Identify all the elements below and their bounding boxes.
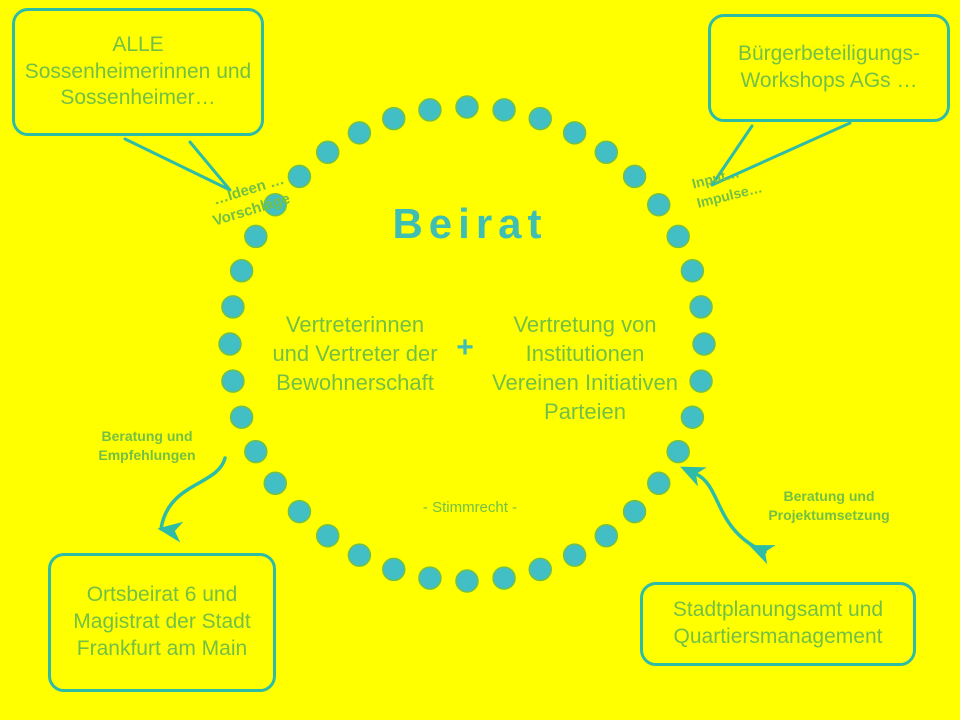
ring-dot xyxy=(348,122,370,144)
ring-dot xyxy=(383,108,405,130)
ring-dot xyxy=(667,225,689,247)
ring-dot xyxy=(648,194,670,216)
arrow-beratung-empfehlungen xyxy=(161,458,225,529)
ring-dot xyxy=(456,570,478,592)
diagram-canvas: ALLE Sossenheimerinnen und Sossenheimer…… xyxy=(0,0,960,720)
ring-dot xyxy=(595,141,617,163)
center-column-institutions: Vertretung von Institutionen Vereinen In… xyxy=(490,310,680,426)
ring-dot xyxy=(624,501,646,523)
box-ortsbeirat-magistrat[interactable]: Ortsbeirat 6 und Magistrat der Stadt Fra… xyxy=(48,553,276,692)
ring-dot xyxy=(529,108,551,130)
speech-bubble-citizens[interactable]: ALLE Sossenheimerinnen und Sossenheimer… xyxy=(12,8,264,136)
arrow-label-beratung-empfehlungen: Beratung und Empfehlungen xyxy=(72,427,222,465)
ring-dot xyxy=(348,544,370,566)
ring-dot xyxy=(667,441,689,463)
ring-dot xyxy=(231,406,253,428)
ring-dot xyxy=(693,333,715,355)
ring-dot xyxy=(219,333,241,355)
ring-dot xyxy=(681,406,703,428)
box-ortsbeirat-magistrat-text: Ortsbeirat 6 und Magistrat der Stadt Fra… xyxy=(59,582,265,663)
ring-dot xyxy=(419,567,441,589)
annotation-input-impulse: Input… Impulse… xyxy=(690,148,806,213)
speech-bubble-workshops[interactable]: Bürgerbeteiligungs- Workshops AGs … xyxy=(708,14,950,122)
speech-bubble-workshops-text: Bürgerbeteiligungs- Workshops AGs … xyxy=(719,41,939,95)
arrow-label-beratung-projektumsetzung: Beratung und Projektumsetzung xyxy=(744,487,914,525)
ring-dot xyxy=(564,122,586,144)
ring-dot xyxy=(690,296,712,318)
ring-dot xyxy=(222,370,244,392)
ring-dot xyxy=(317,525,339,547)
ring-dot xyxy=(231,260,253,282)
ring-dot xyxy=(245,225,267,247)
ring-dot xyxy=(564,544,586,566)
ring-dot xyxy=(681,260,703,282)
ring-dot xyxy=(690,370,712,392)
ring-dot xyxy=(245,441,267,463)
speech-tail-left xyxy=(125,139,230,190)
center-footnote-stimmrecht: - Stimmrecht - xyxy=(375,499,565,516)
ring-dot xyxy=(222,296,244,318)
annotation-ideen-vorschlaege: …Ideen …Vorschläge xyxy=(138,170,293,253)
ring-dot xyxy=(288,501,310,523)
page-title: Beirat xyxy=(330,200,610,248)
ring-dot xyxy=(317,141,339,163)
ring-dot xyxy=(456,96,478,118)
ring-dot xyxy=(383,558,405,580)
ring-dot xyxy=(595,525,617,547)
ring-dot xyxy=(288,165,310,187)
ring-dot xyxy=(648,472,670,494)
ring-dot xyxy=(529,558,551,580)
plus-icon: + xyxy=(447,331,483,365)
ring-dot xyxy=(493,567,515,589)
box-stadtplanungsamt-quartiersmanagement-text: Stadtplanungsamt und Quartiersmanagement xyxy=(651,597,905,651)
center-column-residents: Vertreterinnen und Vertreter der Bewohne… xyxy=(265,310,445,397)
ring-dot xyxy=(264,472,286,494)
box-stadtplanungsamt-quartiersmanagement[interactable]: Stadtplanungsamt und Quartiersmanagement xyxy=(640,582,916,666)
ring-dot xyxy=(419,99,441,121)
ring-dot xyxy=(624,165,646,187)
ring-dot xyxy=(493,99,515,121)
speech-bubble-citizens-text: ALLE Sossenheimerinnen und Sossenheimer… xyxy=(23,32,253,113)
